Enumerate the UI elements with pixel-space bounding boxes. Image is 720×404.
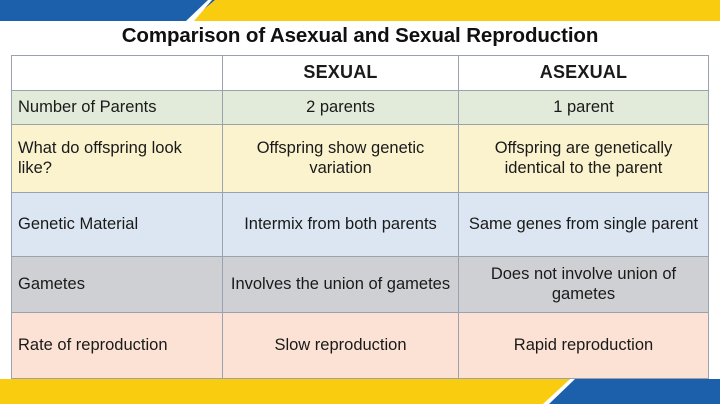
table-row: What do offspring look like? Offspring s… — [12, 125, 709, 193]
cell-sexual-offspring-appearance: Offspring show genetic variation — [223, 125, 459, 193]
top-decorative-banner — [0, 0, 720, 21]
slide-canvas: Comparison of Asexual and Sexual Reprodu… — [0, 0, 720, 404]
column-header-asexual: ASEXUAL — [459, 56, 709, 91]
bottom-decorative-banner — [0, 379, 720, 404]
cell-asexual-gametes: Does not involve union of gametes — [459, 257, 709, 313]
table-row: Rate of reproduction Slow reproduction R… — [12, 313, 709, 379]
table-row: Number of Parents 2 parents 1 parent — [12, 91, 709, 125]
top-banner-blue-shape — [0, 0, 215, 21]
row-label-number-of-parents: Number of Parents — [12, 91, 223, 125]
comparison-table: SEXUAL ASEXUAL Number of Parents 2 paren… — [11, 55, 709, 379]
cell-asexual-rate-of-reproduction: Rapid reproduction — [459, 313, 709, 379]
cell-asexual-offspring-appearance: Offspring are genetically identical to t… — [459, 125, 709, 193]
row-label-gametes: Gametes — [12, 257, 223, 313]
cell-asexual-genetic-material: Same genes from single parent — [459, 193, 709, 257]
cell-sexual-gametes: Involves the union of gametes — [223, 257, 459, 313]
table-row: Genetic Material Intermix from both pare… — [12, 193, 709, 257]
comparison-table-wrapper: SEXUAL ASEXUAL Number of Parents 2 paren… — [11, 55, 708, 379]
bottom-banner-yellow-shape — [0, 379, 600, 404]
column-header-sexual: SEXUAL — [223, 56, 459, 91]
slide-title: Comparison of Asexual and Sexual Reprodu… — [0, 24, 720, 48]
row-label-offspring-appearance: What do offspring look like? — [12, 125, 223, 193]
table-row: Gametes Involves the union of gametes Do… — [12, 257, 709, 313]
row-label-rate-of-reproduction: Rate of reproduction — [12, 313, 223, 379]
table-header-row: SEXUAL ASEXUAL — [12, 56, 709, 91]
cell-sexual-rate-of-reproduction: Slow reproduction — [223, 313, 459, 379]
cell-sexual-number-of-parents: 2 parents — [223, 91, 459, 125]
cell-sexual-genetic-material: Intermix from both parents — [223, 193, 459, 257]
row-label-genetic-material: Genetic Material — [12, 193, 223, 257]
column-header-blank — [12, 56, 223, 91]
cell-asexual-number-of-parents: 1 parent — [459, 91, 709, 125]
